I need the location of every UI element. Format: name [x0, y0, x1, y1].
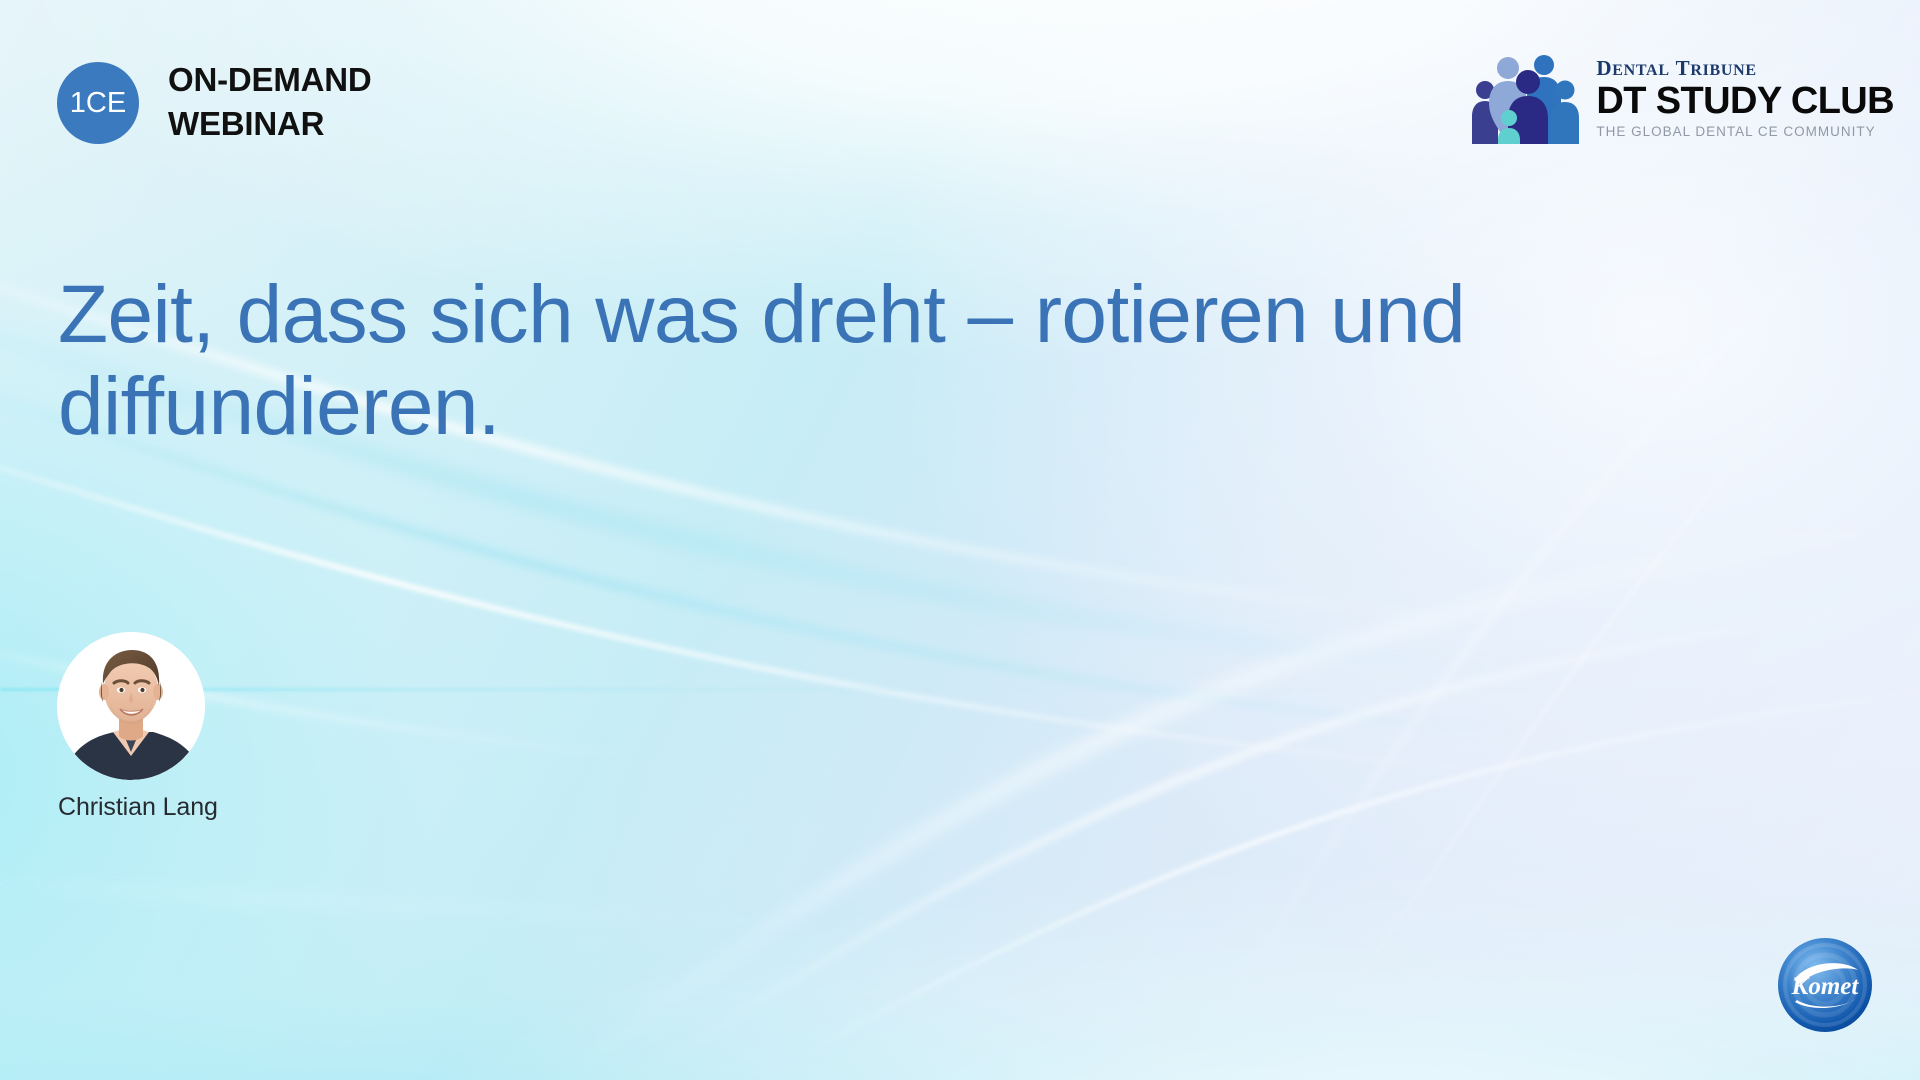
dt-study-club-tagline: THE GLOBAL DENTAL CE COMMUNITY: [1596, 125, 1894, 139]
avatar: [57, 632, 205, 780]
eyebrow-ribune: RIBUNE: [1690, 62, 1756, 79]
background-top-white-glow: [0, 0, 1920, 1080]
background-bottom-glow: [0, 0, 1920, 1080]
eyebrow-t: T: [1676, 56, 1691, 80]
komet-logo: Komet: [1776, 936, 1874, 1034]
svg-text:Komet: Komet: [1791, 973, 1860, 1000]
ce-credit-badge: 1CE: [57, 62, 139, 144]
dt-study-club-logo: DENTAL TRIBUNE DT STUDY CLUB THE GLOBAL …: [1468, 54, 1894, 144]
dt-logo-wordmark: DENTAL TRIBUNE DT STUDY CLUB THE GLOBAL …: [1596, 54, 1894, 138]
page-title: Zeit, dass sich was dreht – rotieren und…: [58, 269, 1478, 453]
dt-study-club-name: DT STUDY CLUB: [1596, 82, 1894, 121]
background-left-cyan-glow: [0, 0, 1920, 1080]
webinar-type-kicker: ON-DEMAND WEBINAR: [168, 58, 372, 145]
background-right-glow: [0, 0, 1920, 1080]
background-horizon-line: [0, 688, 1920, 691]
eyebrow-ental: ENTAL: [1612, 62, 1669, 79]
ce-credit-badge-label: 1CE: [70, 89, 126, 118]
people-group-icon: [1468, 54, 1580, 144]
speaker-name: Christian Lang: [58, 793, 218, 822]
background-bottom-cyan: [0, 0, 1920, 1080]
dental-tribune-eyebrow: DENTAL TRIBUNE: [1596, 58, 1894, 79]
eyebrow-d: D: [1596, 56, 1612, 80]
webinar-title-slide: 1CE ON-DEMAND WEBINAR: [0, 0, 1920, 1080]
background-light-streaks: [0, 0, 1920, 1080]
background-base-gradient: [0, 0, 1920, 1080]
